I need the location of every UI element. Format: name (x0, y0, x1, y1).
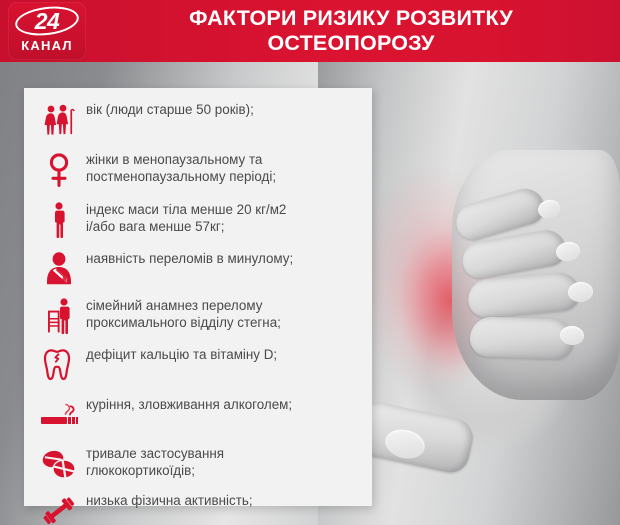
list-item: низька фізична активність; (24, 491, 372, 525)
tooth-icon (32, 345, 86, 385)
list-item-label: тривале застосування глюкокортикоїдів; (86, 444, 224, 479)
pills-icon (32, 444, 86, 484)
list-item-label: низька фізична активність; (86, 491, 253, 510)
logo-number: 24 (8, 8, 86, 35)
title-line-1: ФАКТОРИ РИЗИКУ РОЗВИТКУ (189, 6, 513, 30)
list-item-line-2: постменопаузальному періоді; (86, 169, 276, 186)
female-gender-icon (32, 150, 86, 190)
title-line-2: ОСТЕОПОРОЗУ (96, 31, 606, 56)
list-item: куріння, зловживання алкоголем; (24, 395, 372, 435)
infographic-root: 24 КАНАЛ ФАКТОРИ РИЗИКУ РОЗВИТКУ ОСТЕОПО… (0, 0, 620, 525)
list-item-line-1: вік (люди старше 50 років); (86, 102, 254, 117)
list-item-line-2: проксимального відділу стегна; (86, 315, 281, 332)
elderly-couple-icon (32, 100, 86, 140)
list-item-line-1: куріння, зловживання алкоголем; (86, 397, 292, 412)
dumbbell-icon (32, 491, 86, 525)
list-item: сімейний анамнез перелому проксимального… (24, 296, 372, 336)
list-item-line-1: наявність переломів в минулому; (86, 251, 293, 266)
list-item: вік (люди старше 50 років); (24, 100, 372, 140)
page-title: ФАКТОРИ РИЗИКУ РОЗВИТКУ ОСТЕОПОРОЗУ (96, 6, 606, 56)
person-with-walker-icon (32, 296, 86, 336)
header-bar: 24 КАНАЛ ФАКТОРИ РИЗИКУ РОЗВИТКУ ОСТЕОПО… (0, 0, 620, 62)
arm-sling-icon (32, 249, 86, 289)
list-item-label: вік (люди старше 50 років); (86, 100, 254, 119)
list-item-line-1: дефіцит кальцію та вітаміну D; (86, 347, 277, 362)
thin-person-icon (32, 200, 86, 240)
risk-factors-panel: вік (люди старше 50 років); жінки в мено… (24, 88, 372, 506)
list-item-line-1: жінки в менопаузальному та (86, 152, 262, 167)
list-item: тривале застосування глюкокортикоїдів; (24, 444, 372, 484)
list-item-line-2: глюкокортикоїдів; (86, 463, 224, 480)
list-item: дефіцит кальцію та вітаміну D; (24, 345, 372, 385)
list-item-line-1: сімейний анамнез перелому (86, 298, 262, 313)
cigarette-icon (32, 395, 86, 435)
list-item-label: наявність переломів в минулому; (86, 249, 293, 268)
list-item-line-1: низька фізична активність; (86, 493, 253, 508)
list-item: наявність переломів в минулому; (24, 249, 372, 289)
list-item-line-1: тривале застосування (86, 446, 224, 461)
list-item-line-2: і/або вага менше 57кг; (86, 219, 286, 236)
list-item: індекс маси тіла менше 20 кг/м2 і/або ва… (24, 200, 372, 240)
risk-factors-list: вік (люди старше 50 років); жінки в мено… (24, 100, 372, 525)
list-item-label: дефіцит кальцію та вітаміну D; (86, 345, 277, 364)
list-item-label: сімейний анамнез перелому проксимального… (86, 296, 281, 331)
channel-logo: 24 КАНАЛ (8, 2, 86, 60)
list-item-label: жінки в менопаузальному та постменопауза… (86, 150, 276, 185)
finger-4 (469, 316, 574, 360)
logo-word: КАНАЛ (8, 38, 86, 53)
list-item-label: куріння, зловживання алкоголем; (86, 395, 292, 414)
list-item-label: індекс маси тіла менше 20 кг/м2 і/або ва… (86, 200, 286, 235)
list-item: жінки в менопаузальному та постменопауза… (24, 150, 372, 190)
list-item-line-1: індекс маси тіла менше 20 кг/м2 (86, 202, 286, 217)
